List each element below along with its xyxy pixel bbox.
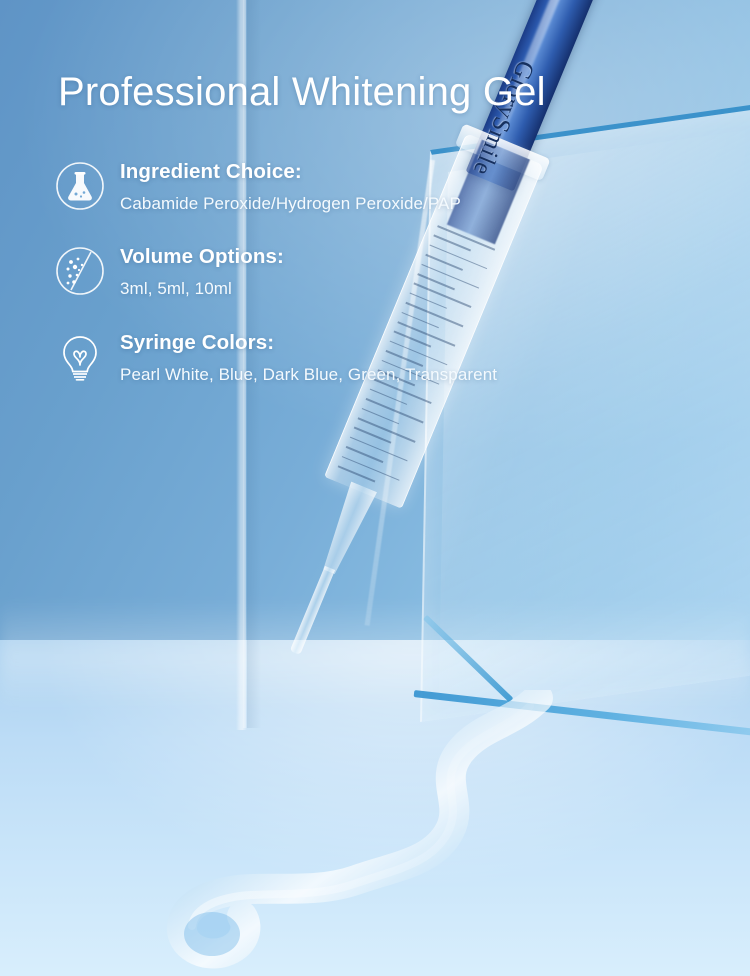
feature-text-volume: Volume Options: 3ml, 5ml, 10ml (120, 243, 284, 302)
feature-body: Cabamide Peroxide/Hydrogen Peroxide/PAP (120, 191, 461, 217)
product-banner: GlorySmile Professional Whitening Gel (0, 0, 750, 976)
feature-list: Ingredient Choice: Cabamide Peroxide/Hyd… (52, 158, 572, 414)
feature-item-volume: Volume Options: 3ml, 5ml, 10ml (52, 243, 572, 302)
lightbulb-icon (52, 329, 108, 385)
feature-item-ingredient: Ingredient Choice: Cabamide Peroxide/Hyd… (52, 158, 572, 217)
volume-dots-icon (52, 243, 108, 299)
feature-body: 3ml, 5ml, 10ml (120, 276, 284, 302)
page-title: Professional Whitening Gel (58, 70, 546, 115)
feature-heading: Volume Options: (120, 245, 284, 269)
feature-heading: Syringe Colors: (120, 331, 497, 355)
feature-text-ingredient: Ingredient Choice: Cabamide Peroxide/Hyd… (120, 158, 461, 217)
gel-ribbon (120, 690, 590, 970)
feature-text-colors: Syringe Colors: Pearl White, Blue, Dark … (120, 329, 497, 388)
feature-item-colors: Syringe Colors: Pearl White, Blue, Dark … (52, 329, 572, 388)
feature-heading: Ingredient Choice: (120, 160, 461, 184)
feature-body: Pearl White, Blue, Dark Blue, Green, Tra… (120, 362, 497, 388)
syringe-nozzle (316, 481, 377, 577)
flask-icon (52, 158, 108, 214)
